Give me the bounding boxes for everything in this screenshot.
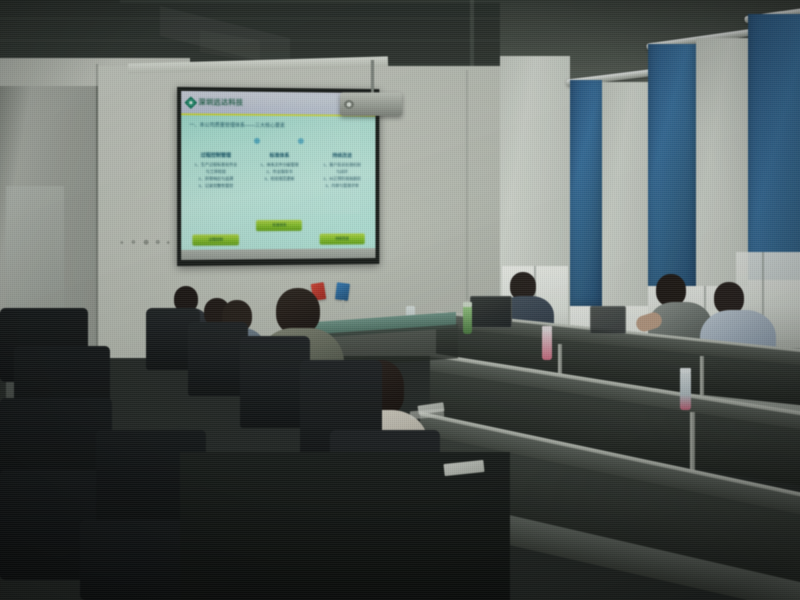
column-line: 3、记录完整性管控: [199, 184, 234, 188]
company-logo-icon: [184, 96, 197, 109]
column-button: 标准体系: [257, 220, 303, 231]
slide-columns: 过程控制管理 1、生产过程标准化作业 与工序检验 2、异常响应与追溯 3、记录完…: [185, 152, 371, 246]
column-heading: 标准体系: [270, 152, 290, 159]
slide-title: 一、本公司质量管理体系——三大核心要素: [189, 121, 367, 131]
column-line: 1、客户投诉处理机制: [323, 163, 360, 167]
column-line: 2、作业指导书: [266, 170, 292, 174]
desktop-monitor: [590, 306, 626, 334]
column-line: 3、内审与管理评审: [325, 184, 359, 188]
column-line: 1、生产过程标准化作业: [194, 163, 237, 167]
slide-column-3: 持续改进 1、客户投诉处理机制 与闭环 2、纠正预防措施跟踪 3、内审与管理评审…: [312, 152, 371, 245]
column-heading: 过程控制管理: [201, 152, 231, 159]
column-heading: 持续改进: [332, 152, 352, 159]
bottle-cap: [463, 302, 472, 307]
bottle-cap: [542, 326, 552, 331]
roller-blind[interactable]: [648, 44, 696, 294]
column-button-label: 持续改进: [335, 236, 349, 241]
projector-lens-icon: [344, 100, 354, 109]
wall-marking: [116, 236, 174, 248]
bottle-clear: [680, 372, 691, 410]
column-button: 过程控制: [193, 234, 240, 245]
bottle-green: [463, 306, 472, 334]
slide-body: 一、本公司质量管理体系——三大核心要素 过程控制管理 1、生产过程标准化作业 与…: [181, 113, 375, 250]
desk-leg: [690, 412, 695, 470]
wall-seam: [466, 70, 468, 300]
slide-arrow-row: [254, 138, 304, 148]
column-button-label: 标准体系: [273, 223, 287, 228]
column-line: 与闭环: [336, 170, 348, 174]
conference-room-photo: 深圳远达科技 一、本公司质量管理体系——三大核心要素 过程控制管理 1、生产过程…: [0, 0, 800, 600]
slide-footer: [181, 248, 375, 260]
roller-blind[interactable]: [570, 80, 602, 310]
column-line: 2、纠正预防措施跟踪: [323, 177, 360, 181]
column-line: 1、体系文件分级管理: [260, 163, 298, 167]
slide-column-2: 标准体系 1、体系文件分级管理 2、作业指导书 3、检验规范更新 标准体系: [249, 152, 309, 245]
slide-column-1: 过程控制管理 1、生产过程标准化作业 与工序检验 2、异常响应与追溯 3、记录完…: [185, 152, 246, 246]
chair[interactable]: [188, 322, 248, 396]
slide-logo-text: 深圳远达科技: [198, 97, 243, 107]
column-button-label: 过程控制: [209, 237, 223, 242]
bottle-cap: [680, 368, 691, 373]
column-line: 3、检验规范更新: [264, 177, 294, 181]
roller-blind[interactable]: [748, 14, 800, 286]
arrow-dot-icon: [254, 138, 260, 144]
arrow-dot-icon: [298, 138, 304, 144]
projector-mount-pole: [371, 60, 374, 94]
desktop-monitor: [470, 296, 512, 328]
column-button: 持续改进: [319, 233, 364, 244]
slide-surface: 深圳远达科技 一、本公司质量管理体系——三大核心要素 过程控制管理 1、生产过程…: [181, 91, 375, 260]
bottle-pink: [542, 330, 552, 360]
column-line: 2、异常响应与追溯: [199, 177, 234, 181]
column-line: 与工序检验: [206, 170, 226, 174]
